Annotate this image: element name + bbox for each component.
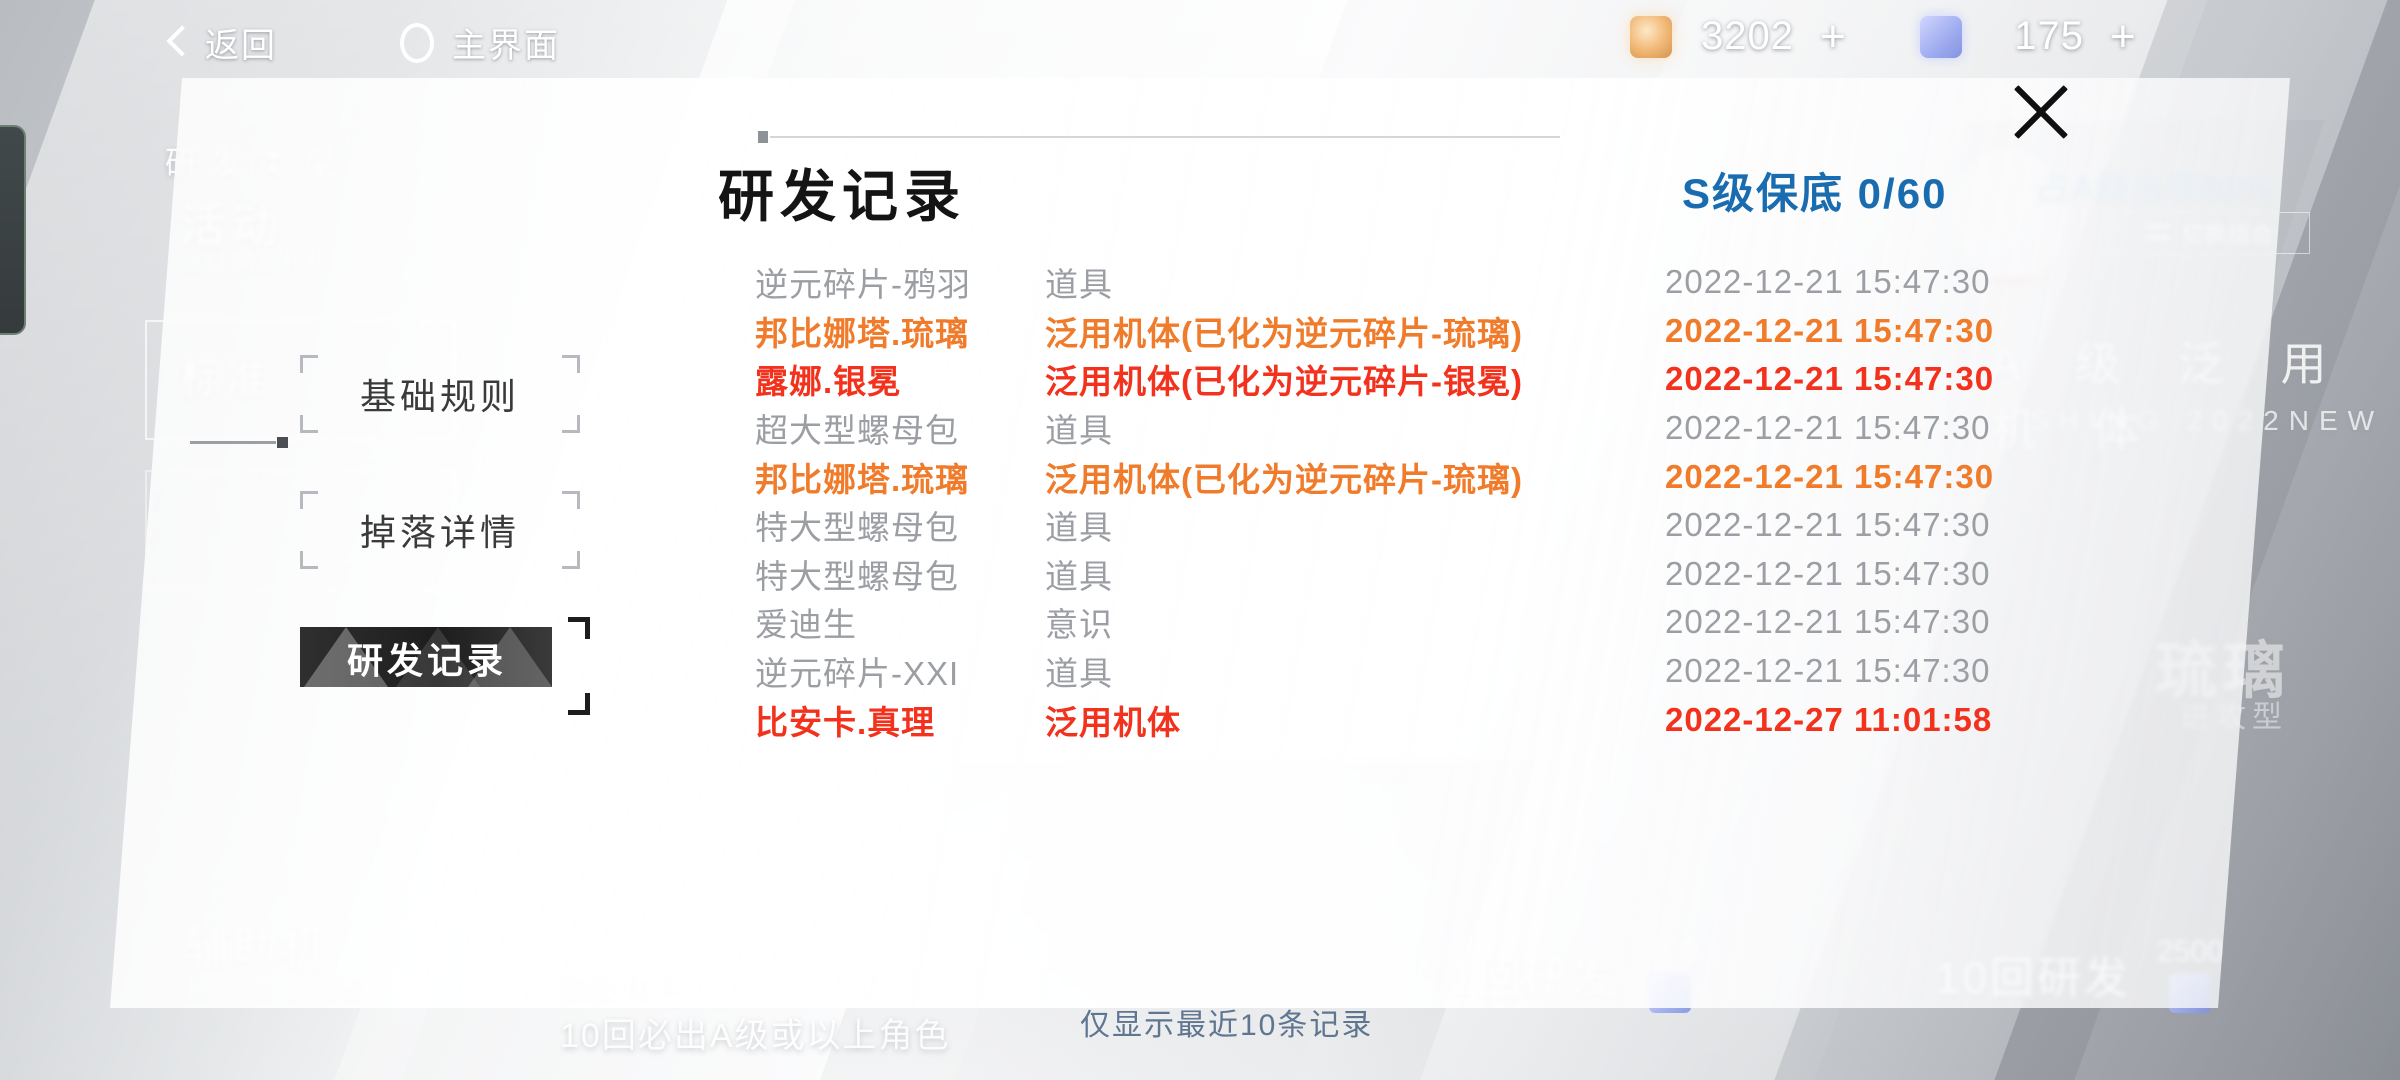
currency-gem: 175 + [1920, 14, 2136, 59]
record-name: 露娜.银冕 [755, 355, 1045, 403]
home-button[interactable]: 主界面 [400, 18, 560, 67]
add-gold-button[interactable]: + [1820, 18, 1846, 56]
record-name: 邦比娜塔.琉璃 [755, 453, 1045, 501]
record-type: 道具 [1045, 501, 1665, 549]
corner-bracket-icon [568, 617, 590, 639]
table-row: 比安卡.真理泛用机体2022-12-27 11:01:58 [755, 695, 2095, 744]
record-name: 逆元碎片-XXI [755, 647, 1045, 695]
record-name: 特大型螺母包 [755, 501, 1045, 549]
record-name: 爱迪生 [755, 598, 1045, 646]
corner-bracket-icon [300, 491, 318, 509]
record-type: 泛用机体(已化为逆元碎片-银冕) [1045, 355, 1665, 403]
gold-value: 3202 [1698, 14, 1794, 59]
menu-pointer-line [190, 441, 276, 444]
record-name: 比安卡.真理 [755, 696, 1045, 744]
record-time: 2022-12-21 15:47:30 [1665, 458, 2085, 496]
add-gem-button[interactable]: + [2110, 18, 2136, 56]
gold-coin-icon [1630, 16, 1672, 58]
corner-bracket-icon [568, 693, 590, 715]
corner-bracket-icon [300, 551, 318, 569]
home-label: 主界面 [452, 18, 560, 67]
sidebar-item-label: 研发记录 [347, 632, 507, 684]
table-row: 逆元碎片-XXI道具2022-12-21 15:47:30 [755, 647, 2095, 696]
sidebar-item-basic-rules[interactable]: 基础规则 [300, 355, 580, 433]
record-name: 超大型螺母包 [755, 404, 1045, 452]
dialog-sidebar: 基础规则 掉落详情 研发记录 [300, 355, 590, 767]
chevron-left-icon [165, 25, 187, 61]
table-row: 逆元碎片-鸦羽道具2022-12-21 15:47:30 [755, 258, 2095, 307]
sidebar-item-label: 基础规则 [360, 368, 520, 420]
record-type: 泛用机体(已化为逆元碎片-琉璃) [1045, 453, 1665, 501]
table-row: 邦比娜塔.琉璃泛用机体(已化为逆元碎片-琉璃)2022-12-21 15:47:… [755, 452, 2095, 501]
table-row: 特大型螺母包道具2022-12-21 15:47:30 [755, 550, 2095, 599]
record-type: 道具 [1045, 647, 1665, 695]
record-type: 道具 [1045, 550, 1665, 598]
dialog-accent-dot [758, 131, 768, 143]
dialog-title: 研发记录 [718, 152, 966, 233]
record-name: 逆元碎片-鸦羽 [755, 258, 1045, 306]
sidebar-item-research-record[interactable]: 研发记录 [300, 627, 582, 709]
records-table: 逆元碎片-鸦羽道具2022-12-21 15:47:30邦比娜塔.琉璃泛用机体(… [755, 258, 2095, 744]
corner-bracket-icon [300, 355, 318, 373]
close-icon[interactable] [2002, 72, 2080, 150]
record-time: 2022-12-21 15:47:30 [1665, 263, 2085, 301]
back-label: 返回 [205, 18, 277, 67]
corner-bracket-icon [562, 415, 580, 433]
corner-bracket-icon [562, 491, 580, 509]
sidebar-item-label: 掉落详情 [360, 504, 520, 556]
currency-gold: 3202 + [1630, 14, 1846, 59]
table-row: 爱迪生意识2022-12-21 15:47:30 [755, 598, 2095, 647]
table-row: 特大型螺母包道具2022-12-21 15:47:30 [755, 501, 2095, 550]
gem-value: 175 [1988, 14, 2084, 59]
record-type: 意识 [1045, 598, 1665, 646]
pity-counter: S级保底 0/60 [1682, 160, 1947, 221]
back-button[interactable]: 返回 [165, 18, 277, 67]
record-name: 特大型螺母包 [755, 550, 1045, 598]
record-time: 2022-12-21 15:47:30 [1665, 506, 2085, 544]
sidebar-item-drop-details[interactable]: 掉落详情 [300, 491, 580, 569]
record-type: 道具 [1045, 404, 1665, 452]
table-row: 露娜.银冕泛用机体(已化为逆元碎片-银冕)2022-12-21 15:47:30 [755, 355, 2095, 404]
dialog-accent-line [770, 136, 1560, 138]
table-row: 邦比娜塔.琉璃泛用机体(已化为逆元碎片-琉璃)2022-12-21 15:47:… [755, 307, 2095, 356]
circle-icon [400, 23, 434, 63]
record-time: 2022-12-21 15:47:30 [1665, 409, 2085, 447]
record-time: 2022-12-21 15:47:30 [1665, 312, 2085, 350]
side-drawer-handle[interactable] [0, 125, 26, 335]
record-type: 泛用机体 [1045, 696, 1665, 744]
gem-icon [1920, 16, 1962, 58]
table-row: 超大型螺母包道具2022-12-21 15:47:30 [755, 404, 2095, 453]
record-time: 2022-12-21 15:47:30 [1665, 555, 2085, 593]
corner-bracket-icon [562, 551, 580, 569]
footer-note: 仅显示最近10条记录 [1080, 1000, 1373, 1044]
record-time: 2022-12-21 15:47:30 [1665, 360, 2085, 398]
record-name: 邦比娜塔.琉璃 [755, 307, 1045, 355]
corner-bracket-icon [562, 355, 580, 373]
record-type: 道具 [1045, 258, 1665, 306]
record-time: 2022-12-27 11:01:58 [1665, 701, 2085, 739]
top-status-bar: 返回 主界面 3202 + 175 + [0, 0, 2400, 75]
corner-bracket-icon [300, 415, 318, 433]
record-time: 2022-12-21 15:47:30 [1665, 652, 2085, 690]
a-rate-note: 10回必出A级或以上角色 [560, 1008, 951, 1057]
record-type: 泛用机体(已化为逆元碎片-琉璃) [1045, 307, 1665, 355]
record-time: 2022-12-21 15:47:30 [1665, 603, 2085, 641]
